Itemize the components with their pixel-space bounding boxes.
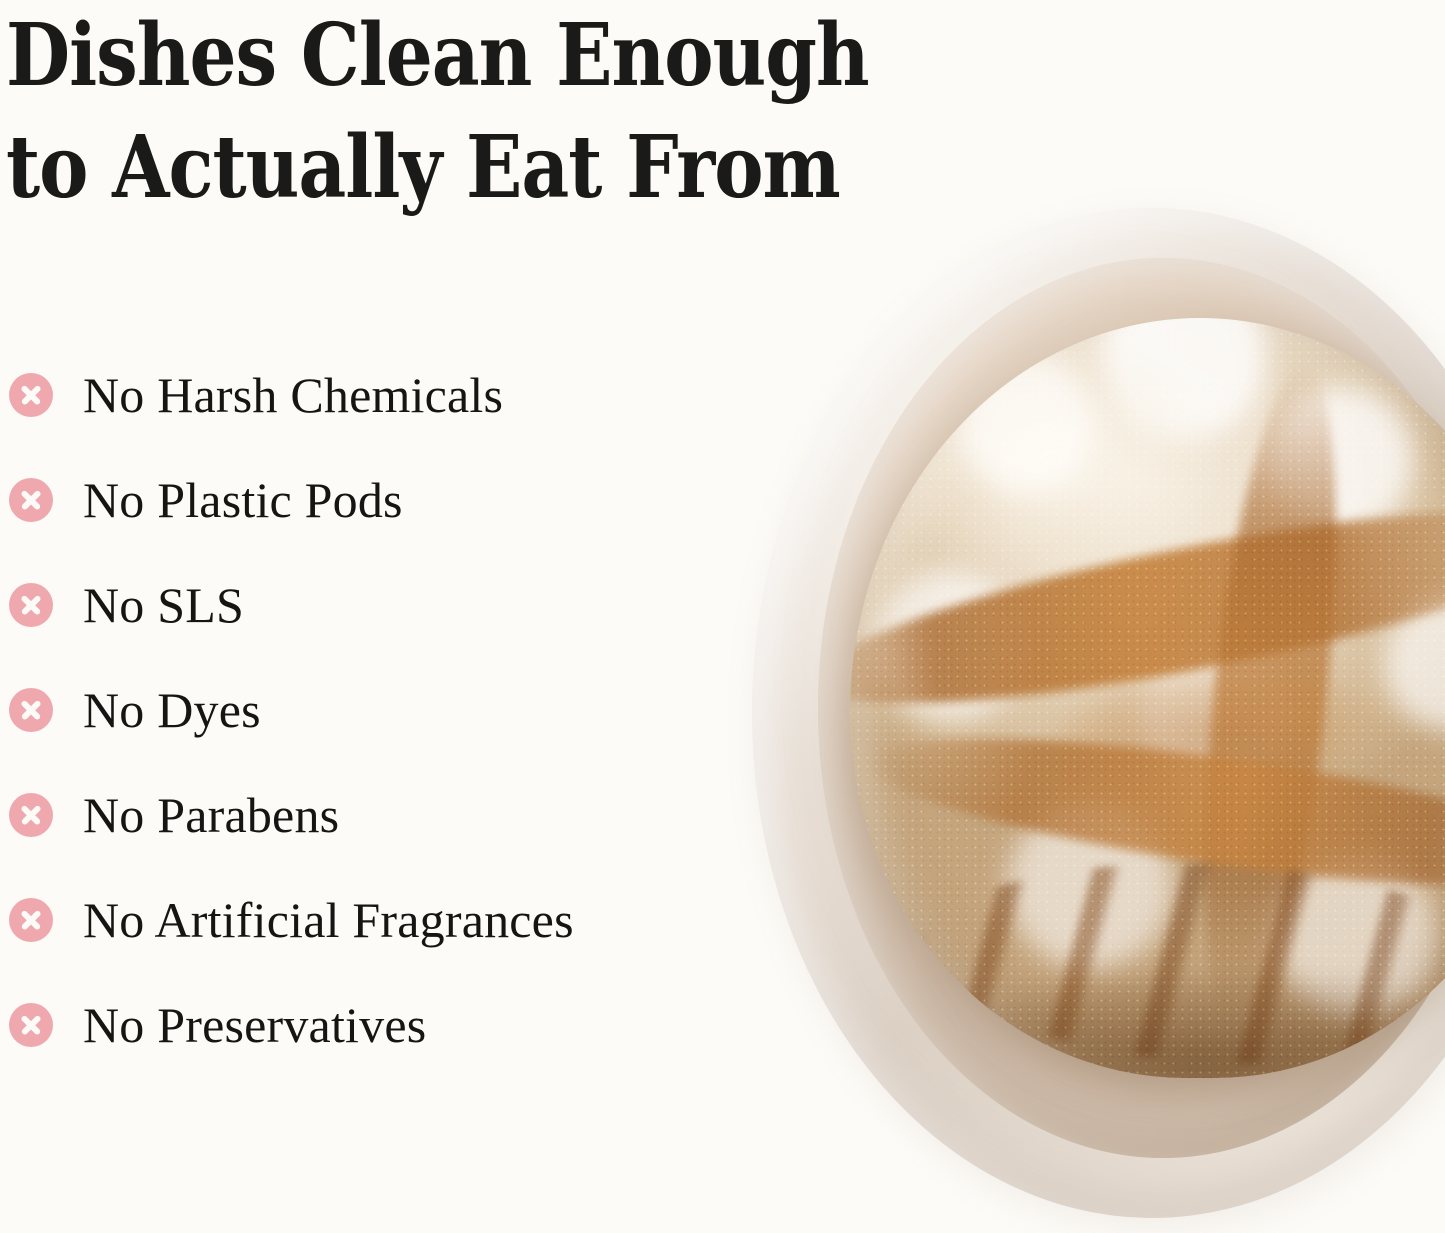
list-item-label: No SLS <box>83 580 244 630</box>
list-item: No Artificial Fragrances <box>4 867 724 972</box>
crust-toasted-center <box>1021 604 1393 867</box>
x-circle-icon <box>9 373 53 417</box>
x-circle-icon <box>9 583 53 627</box>
crust-score-mark <box>850 472 1445 741</box>
crust-score-mark <box>1179 360 1360 1037</box>
sourdough-loaf <box>850 318 1445 1078</box>
x-circle-icon <box>9 1003 53 1047</box>
list-item: No Parabens <box>4 762 724 867</box>
list-item-label: No Artificial Fragrances <box>83 895 574 945</box>
list-item-label: No Preservatives <box>83 1000 426 1050</box>
list-item: No Dyes <box>4 657 724 762</box>
list-item: No Plastic Pods <box>4 447 724 552</box>
crust-highlight <box>892 348 1284 622</box>
crust-score-mark <box>860 709 1445 916</box>
list-item: No Preservatives <box>4 972 724 1077</box>
headline-line-2: to Actually Eat From <box>6 112 935 224</box>
crust-dark-edge <box>878 926 1445 1078</box>
list-item: No Harsh Chemicals <box>4 342 724 447</box>
list-item-label: No Parabens <box>83 790 339 840</box>
benefits-list: No Harsh Chemicals No Plastic Pods No SL… <box>4 342 724 1077</box>
x-circle-icon <box>9 478 53 522</box>
list-item-label: No Plastic Pods <box>83 475 403 525</box>
list-item-label: No Dyes <box>83 685 261 735</box>
list-item: No SLS <box>4 552 724 657</box>
promotional-graphic: Dishes Clean Enough to Actually Eat From… <box>0 0 1445 1233</box>
headline-line-1: Dishes Clean Enough <box>6 0 935 112</box>
x-circle-icon <box>9 793 53 837</box>
page-title: Dishes Clean Enough to Actually Eat From <box>6 0 1086 224</box>
x-circle-icon <box>9 688 53 732</box>
list-item-label: No Harsh Chemicals <box>83 370 503 420</box>
x-circle-icon <box>9 898 53 942</box>
crust-ridges <box>915 850 1445 1078</box>
